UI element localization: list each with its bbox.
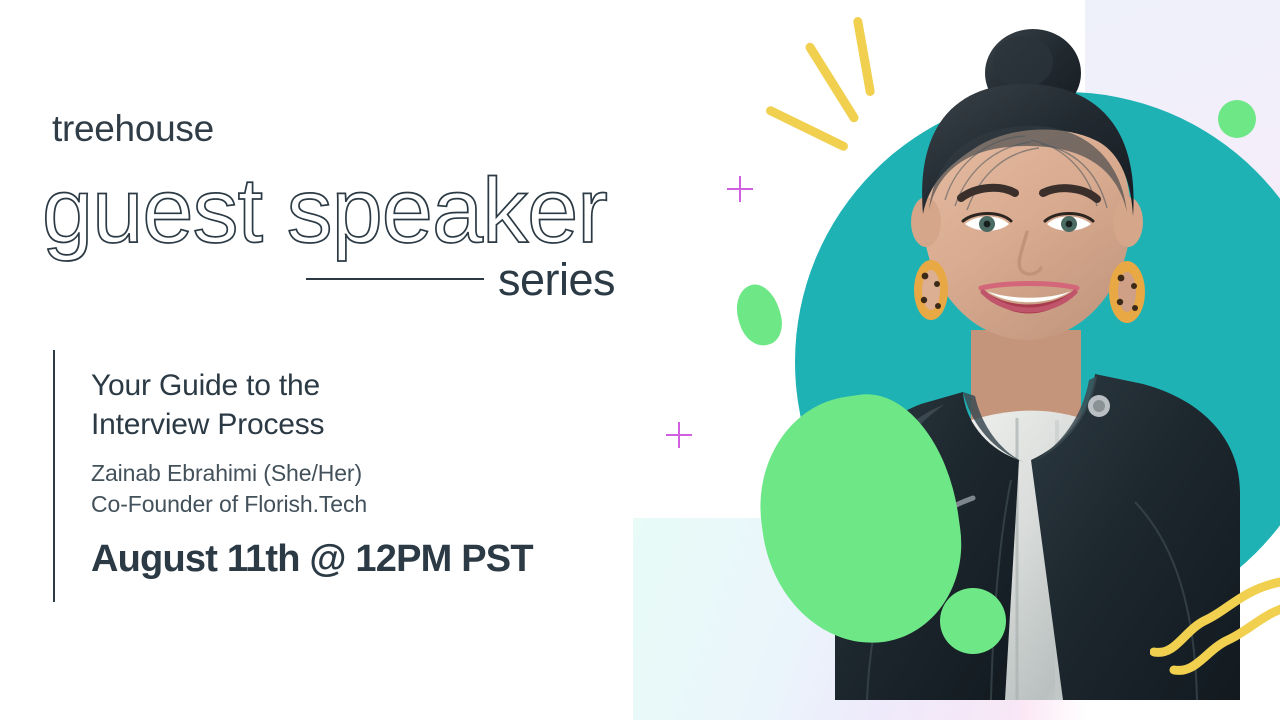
green-circle-shape [940,588,1006,654]
speaker-role: Co-Founder of Florish.Tech [91,489,611,520]
talk-title: Your Guide to the Interview Process [91,366,611,444]
promo-slide: treehouse guest speaker series Your Guid… [0,0,1280,720]
plus-mark-icon [666,422,692,448]
yellow-squiggle-shape [1150,570,1280,680]
talk-info-block: Your Guide to the Interview Process Zain… [91,366,611,582]
event-datetime: August 11th @ 12PM PST [91,536,611,582]
svg-text:guest speaker: guest speaker [42,160,607,262]
hero-subtitle: series [498,254,615,306]
talk-title-line-1: Your Guide to the [91,369,320,402]
title-divider-rule [306,278,484,280]
plus-mark-icon [727,176,753,202]
vertical-divider [53,350,55,602]
speaker-name: Zainab Ebrahimi (She/Her) [91,458,611,489]
talk-title-line-2: Interview Process [91,408,324,441]
brand-wordmark: treehouse [52,108,214,150]
green-pill-shape [730,279,787,350]
